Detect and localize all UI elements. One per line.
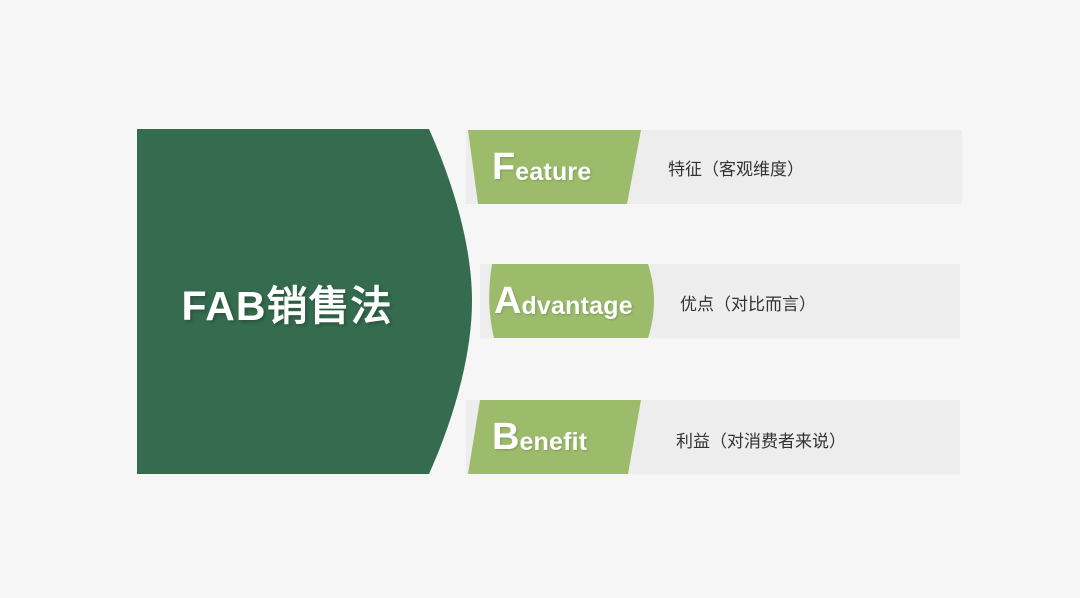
row-initial-letter: F — [492, 148, 515, 186]
row-initial-letter: A — [494, 282, 521, 320]
row-tag-label-feature: Feature — [492, 130, 591, 204]
row-word-rest: eature — [515, 160, 591, 185]
fab-title-panel: FAB销售法 — [137, 129, 472, 474]
row-description-benefit: 利益（对消费者来说） — [676, 427, 846, 452]
page-title: FAB销售法 — [137, 129, 437, 474]
row-tag-label-benefit: Benefit — [492, 400, 587, 474]
row-word-rest: enefit — [519, 430, 587, 455]
row-word-rest: dvantage — [521, 294, 632, 319]
row-initial-letter: B — [492, 418, 519, 456]
row-description-advantage: 优点（对比而言） — [680, 290, 816, 315]
row-description-feature: 特征（客观维度） — [668, 155, 804, 180]
row-tag-label-advantage: Advantage — [494, 264, 633, 338]
slide-canvas: FAB销售法 Feature 特征（客观维度） Advantage 优点（对比而… — [0, 0, 1080, 598]
